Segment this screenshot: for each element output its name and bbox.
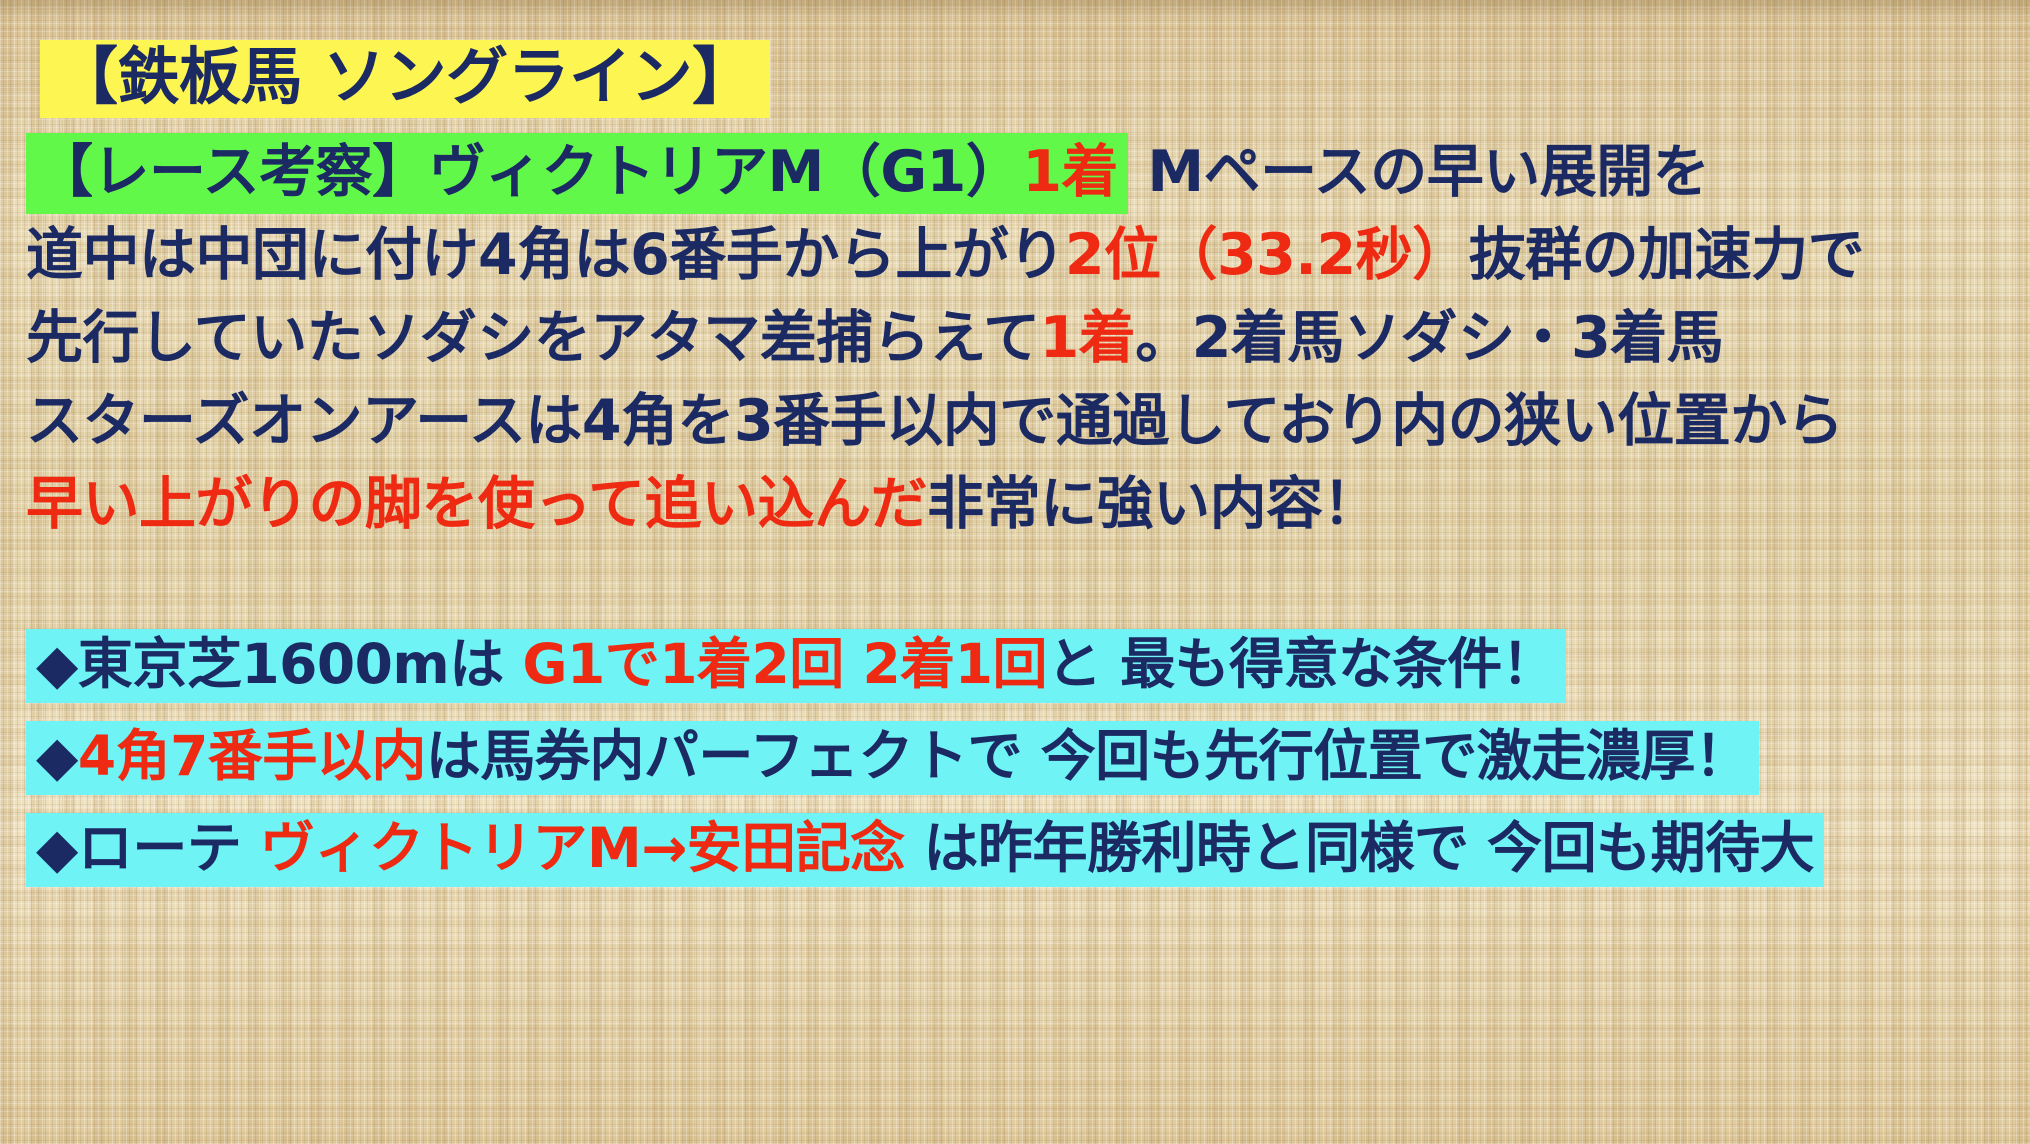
bullet-item-1-highlight: ◆東京芝1600mは G1で1着2回 2着1回と 最も得意な条件！ bbox=[26, 629, 1566, 703]
review-line-4: スターズオンアースは4角を3番手以内で通過しており内の狭い位置から bbox=[26, 393, 2030, 450]
review-line-1-plain: Mペースの早い展開を bbox=[1128, 139, 1709, 205]
review-line-3-part2: 。2着馬ソダシ・3着馬 bbox=[1135, 305, 1723, 371]
bullet-item-3: ◆ローテ ヴィクトリアM→安田記念 は昨年勝利時と同様で 今回も期待大 bbox=[26, 813, 2030, 887]
review-line-1-accent: 1着 bbox=[1022, 139, 1118, 205]
bullet-item-2-accent: 4角7番手以内 bbox=[78, 724, 426, 788]
title-highlight: 【鉄板馬 ソングライン】 bbox=[40, 40, 770, 118]
review-line-2: 道中は中団に付け4角は6番手から上がり2位（33.2秒）抜群の加速力で bbox=[26, 227, 2030, 284]
poster-content: 【鉄板馬 ソングライン】 【レース考察】ヴィクトリアM（G1）1着 Mペースの早… bbox=[0, 0, 2030, 887]
bullet-item-1: ◆東京芝1600mは G1で1着2回 2着1回と 最も得意な条件！ bbox=[26, 629, 2030, 703]
review-line-3-accent: 1着 bbox=[1040, 305, 1136, 371]
bullet-item-2-highlight: ◆4角7番手以内は馬券内パーフェクトで 今回も先行位置で激走濃厚！ bbox=[26, 721, 1759, 795]
bullet-marker-icon-1: ◆ bbox=[36, 632, 78, 696]
review-line-2-accent: 2位（33.2秒） bbox=[1065, 222, 1469, 288]
review-line-5-plain: 非常に強い内容！ bbox=[927, 471, 1379, 537]
review-line-1: 【レース考察】ヴィクトリアM（G1）1着 Mペースの早い展開を bbox=[26, 144, 2030, 201]
review-line-1-highlight: 【レース考察】ヴィクトリアM（G1）1着 bbox=[26, 133, 1128, 214]
review-line-2-part1: 道中は中団に付け4角は6番手から上がり bbox=[26, 222, 1065, 288]
bullet-item-3-part1: ローテ bbox=[78, 816, 260, 880]
review-line-1-label: 【レース考察】ヴィクトリアM（G1） bbox=[36, 139, 1022, 205]
poster-title: 【鉄板馬 ソングライン】 bbox=[40, 40, 2030, 118]
review-line-4-text: スターズオンアースは4角を3番手以内で通過しており内の狭い位置から bbox=[26, 388, 1843, 454]
bullet-item-2-part2: は馬券内パーフェクトで 今回も先行位置で激走濃厚！ bbox=[426, 724, 1749, 788]
review-line-3: 先行していたソダシをアタマ差捕らえて1着。2着馬ソダシ・3着馬 bbox=[26, 310, 2030, 367]
bullet-marker-icon-3: ◆ bbox=[36, 816, 78, 880]
bullet-marker-icon-2: ◆ bbox=[36, 724, 78, 788]
review-line-5: 早い上がりの脚を使って追い込んだ非常に強い内容！ bbox=[26, 476, 2030, 533]
bullet-item-3-part2: は昨年勝利時と同様で 今回も期待大 bbox=[905, 816, 1814, 880]
bullet-item-1-accent: G1で1着2回 2着1回 bbox=[522, 632, 1047, 696]
poster-canvas: 【鉄板馬 ソングライン】 【レース考察】ヴィクトリアM（G1）1着 Mペースの早… bbox=[0, 0, 2030, 1144]
review-line-2-part2: 抜群の加速力で bbox=[1469, 222, 1865, 288]
bullet-item-2: ◆4角7番手以内は馬券内パーフェクトで 今回も先行位置で激走濃厚！ bbox=[26, 721, 2030, 795]
bullet-item-3-accent: ヴィクトリアM→安田記念 bbox=[260, 816, 905, 880]
review-line-3-part1: 先行していたソダシをアタマ差捕らえて bbox=[26, 305, 1040, 371]
review-line-5-accent: 早い上がりの脚を使って追い込んだ bbox=[26, 471, 927, 537]
bullet-item-1-part1: 東京芝1600mは bbox=[78, 632, 523, 696]
bullet-item-1-part2: と 最も得意な条件！ bbox=[1047, 632, 1556, 696]
bullet-item-3-highlight: ◆ローテ ヴィクトリアM→安田記念 は昨年勝利時と同様で 今回も期待大 bbox=[26, 813, 1824, 887]
